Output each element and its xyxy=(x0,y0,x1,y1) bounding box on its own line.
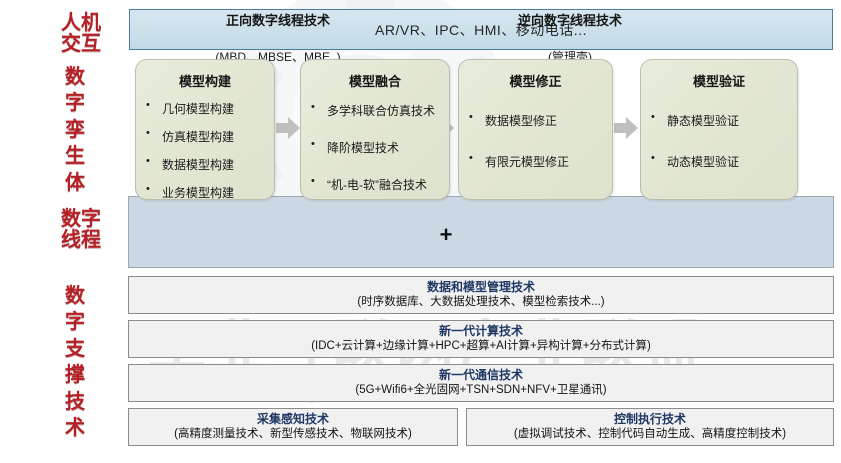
side-label-digital-support: 数字支撑技术 xyxy=(58,282,92,440)
list-item: 仿真模型构建 xyxy=(136,128,274,145)
arrow-correct-to-verify-icon xyxy=(614,117,638,139)
support-row-next-gen-computing: 新一代计算技术 (IDC+云计算+边缘计算+HPC+超算+AI计算+异构计算+分… xyxy=(128,320,834,358)
digital-thread-reverse: 逆向数字线程技术 (管理壳) xyxy=(420,10,720,65)
architecture-diagram: AR/VR、IPC、HMI、移动电话... 正向数字线程技术 (MBD、MBSE… xyxy=(0,0,841,463)
support-row-control-execution: 控制执行技术 (虚拟调试技术、控制代码自动生成、高精度控制技术) xyxy=(466,408,834,446)
list-item: 多学科联合仿真技术 xyxy=(301,102,449,119)
list-item: 几何模型构建 xyxy=(136,100,274,117)
list-item: 数据模型构建 xyxy=(136,156,274,173)
twin-stage-model-build: 模型构建 几何模型构建 仿真模型构建 数据模型构建 业务模型构建 xyxy=(135,59,275,200)
plus-sign: + xyxy=(437,222,455,248)
list-item: 降阶模型技术 xyxy=(301,139,449,156)
support-row-subtitle: (时序数据库、大数据处理技术、模型检索技术...) xyxy=(357,295,604,311)
digital-thread-forward-title: 正向数字线程技术 xyxy=(128,10,428,29)
support-row-subtitle: (IDC+云计算+边缘计算+HPC+超算+AI计算+异构计算+分布式计算) xyxy=(311,339,651,355)
twin-stage-title: 模型构建 xyxy=(136,71,274,90)
support-row-title: 新一代计算技术 xyxy=(439,323,523,339)
digital-thread-reverse-title: 逆向数字线程技术 xyxy=(420,10,720,29)
arrow-build-to-fuse-icon xyxy=(276,117,300,139)
side-label-digital-twin: 数字孪生体 xyxy=(58,63,92,195)
support-row-sensing-acquisition: 采集感知技术 (高精度测量技术、新型传感技术、物联网技术) xyxy=(128,408,458,446)
twin-stage-model-correction: 模型修正 数据模型修正 有限元模型修正 xyxy=(458,59,613,200)
support-row-title: 数据和模型管理技术 xyxy=(427,279,535,295)
digital-thread-forward: 正向数字线程技术 (MBD、MBSE、MBE..) xyxy=(128,10,428,65)
list-item: 静态模型验证 xyxy=(641,112,797,129)
support-row-next-gen-communication: 新一代通信技术 (5G+Wifi6+全光固网+TSN+SDN+NFV+卫星通讯) xyxy=(128,364,834,402)
support-row-subtitle: (高精度测量技术、新型传感技术、物联网技术) xyxy=(174,427,412,443)
support-row-data-model-management: 数据和模型管理技术 (时序数据库、大数据处理技术、模型检索技术...) xyxy=(128,276,834,314)
twin-stage-title: 模型修正 xyxy=(459,71,612,90)
twin-stage-item-list: 多学科联合仿真技术 降阶模型技术 “机-电-软”融合技术 xyxy=(301,102,449,193)
list-item: 业务模型构建 xyxy=(136,184,274,201)
twin-stage-item-list: 数据模型修正 有限元模型修正 xyxy=(459,112,612,170)
list-item: 有限元模型修正 xyxy=(459,153,612,170)
twin-stage-model-fusion: 模型融合 多学科联合仿真技术 降阶模型技术 “机-电-软”融合技术 xyxy=(300,59,450,200)
side-label-digital-thread: 数字线程 xyxy=(48,208,114,250)
list-item: “机-电-软”融合技术 xyxy=(301,176,449,193)
support-row-title: 控制执行技术 xyxy=(614,411,686,427)
list-item: 动态模型验证 xyxy=(641,153,797,170)
side-label-hmi: 人机交互 xyxy=(48,12,114,54)
twin-stage-model-validation: 模型验证 静态模型验证 动态模型验证 xyxy=(640,59,798,200)
support-row-title: 新一代通信技术 xyxy=(439,367,523,383)
support-row-title: 采集感知技术 xyxy=(257,411,329,427)
twin-stage-item-list: 静态模型验证 动态模型验证 xyxy=(641,112,797,170)
support-row-subtitle: (虚拟调试技术、控制代码自动生成、高精度控制技术) xyxy=(514,427,786,443)
digital-thread-band xyxy=(128,196,834,268)
twin-stage-item-list: 几何模型构建 仿真模型构建 数据模型构建 业务模型构建 xyxy=(136,100,274,201)
twin-stage-title: 模型验证 xyxy=(641,71,797,90)
list-item: 数据模型修正 xyxy=(459,112,612,129)
support-row-subtitle: (5G+Wifi6+全光固网+TSN+SDN+NFV+卫星通讯) xyxy=(355,383,606,399)
twin-stage-title: 模型融合 xyxy=(301,71,449,90)
